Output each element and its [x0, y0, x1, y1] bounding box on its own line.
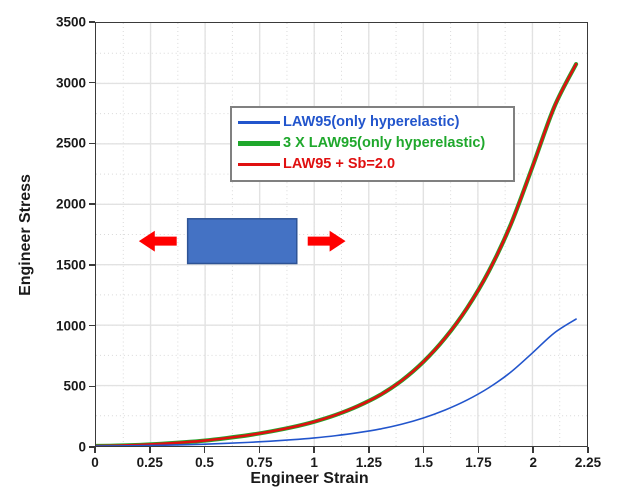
x-tick-mark — [259, 447, 261, 453]
x-tick-label: 0.75 — [246, 456, 272, 470]
legend-line-swatch-blue — [238, 121, 280, 123]
y-tick-label: 2500 — [38, 137, 86, 151]
x-tick-label: 2.25 — [575, 456, 601, 470]
legend-line-swatch-red — [238, 163, 280, 166]
x-axis-title: Engineer Strain — [0, 470, 619, 488]
x-tick-label: 1.75 — [465, 456, 491, 470]
y-tick-label: 3000 — [38, 76, 86, 90]
x-tick-mark — [94, 447, 96, 453]
x-tick-mark — [587, 447, 589, 453]
plot-area — [95, 22, 588, 447]
legend: LAW95(only hyperelastic) 3 X LAW95(only … — [230, 106, 515, 182]
legend-label-0: LAW95(only hyperelastic) — [283, 115, 459, 130]
legend-label-1: 3 X LAW95(only hyperelastic) — [283, 136, 485, 151]
y-tick-label: 500 — [38, 380, 86, 394]
y-tick-label: 1500 — [38, 258, 86, 272]
x-tick-mark — [204, 447, 206, 453]
legend-item-2: LAW95 + Sb=2.0 — [238, 154, 507, 175]
x-tick-mark — [423, 447, 425, 453]
x-tick-label: 1.25 — [356, 456, 382, 470]
y-tick-label: 0 — [38, 440, 86, 454]
y-tick-label: 3500 — [38, 15, 86, 29]
series-layer — [96, 23, 587, 446]
x-tick-mark — [532, 447, 534, 453]
legend-item-0: LAW95(only hyperelastic) — [238, 112, 507, 133]
legend-item-1: 3 X LAW95(only hyperelastic) — [238, 133, 507, 154]
x-tick-label: 2 — [529, 456, 537, 470]
x-tick-label: 0.5 — [195, 456, 214, 470]
x-tick-mark — [313, 447, 315, 453]
x-tick-mark — [478, 447, 480, 453]
y-axis-title-wrapper: Engineer Stress — [28, 0, 30, 498]
y-tick-label: 1000 — [38, 319, 86, 333]
x-tick-label: 1 — [310, 456, 318, 470]
x-tick-mark — [149, 447, 151, 453]
x-tick-label: 0.25 — [137, 456, 163, 470]
y-tick-label: 2000 — [38, 197, 86, 211]
stress-strain-chart: Engineer Stress 050010001500200025003000… — [0, 0, 619, 498]
x-tick-label: 1.5 — [414, 456, 433, 470]
y-axis-title: Engineer Stress — [17, 174, 35, 296]
x-tick-label: 0 — [91, 456, 99, 470]
legend-label-2: LAW95 + Sb=2.0 — [283, 157, 395, 172]
x-tick-mark — [368, 447, 370, 453]
legend-line-swatch-green — [238, 141, 280, 146]
